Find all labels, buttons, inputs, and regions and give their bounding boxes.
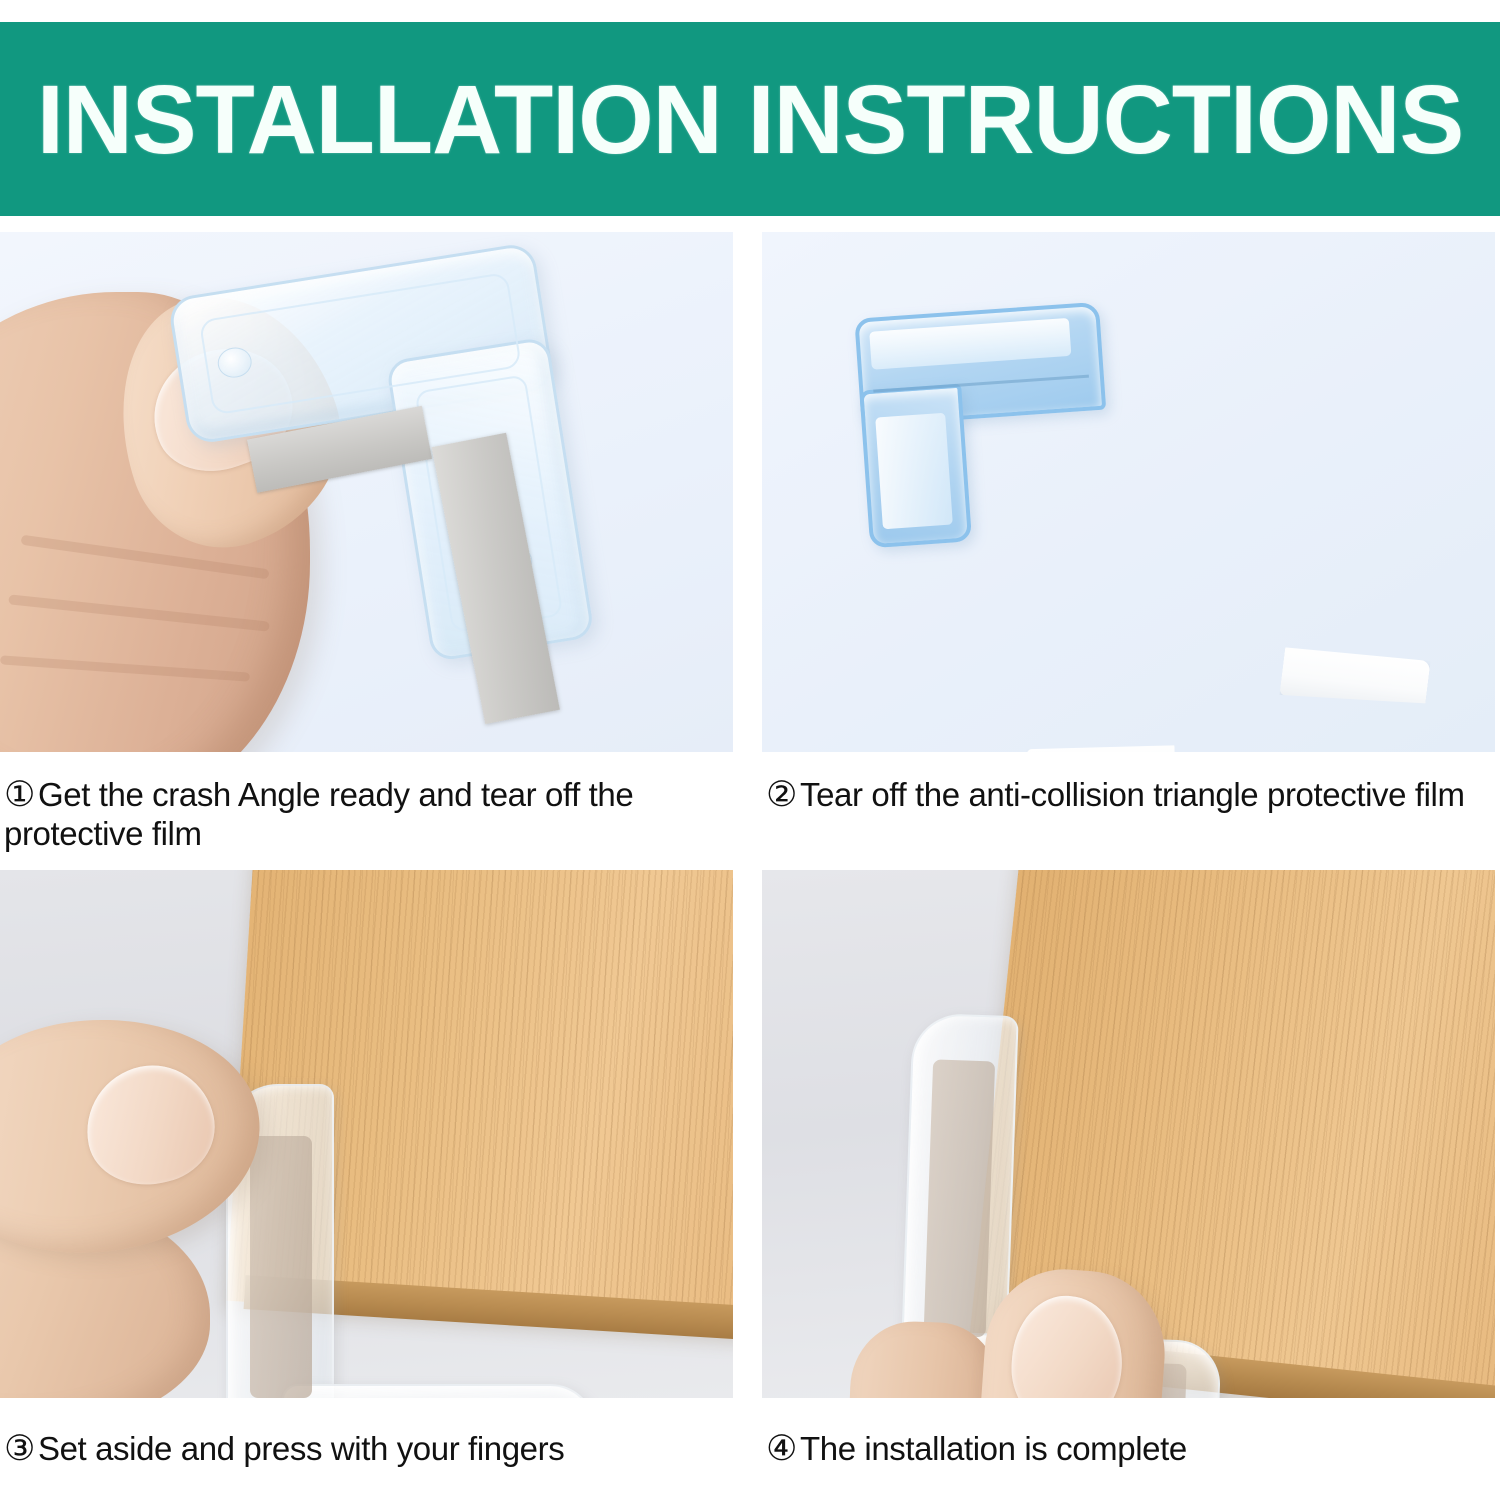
step-2-photo [762,232,1495,752]
step-3: ③Set aside and press with your fingers [0,870,733,1469]
step-1-photo [0,232,733,752]
installation-instructions-page: INSTALLATION INSTRUCTIONS [0,0,1500,1500]
step-text: Get the crash Angle ready and tear off t… [4,776,633,852]
step-1-caption: ①Get the crash Angle ready and tear off … [0,752,733,854]
step-4-caption: ④The installation is complete [762,1398,1495,1469]
step-number: ② [766,775,797,814]
step-number: ① [4,775,35,814]
step-2: ②Tear off the anti-collision triangle pr… [762,232,1495,815]
step-4-photo [762,870,1495,1398]
guard-horizontal-arm [282,1384,596,1398]
clear-corner-guard [226,1084,596,1398]
step-1: ①Get the crash Angle ready and tear off … [0,232,733,854]
step-text: The installation is complete [800,1430,1187,1467]
step-2-caption: ②Tear off the anti-collision triangle pr… [762,752,1495,815]
step-text: Tear off the anti-collision triangle pro… [800,776,1465,813]
clear-corner-guard [167,242,595,695]
step-number: ③ [4,1429,35,1468]
header-banner: INSTALLATION INSTRUCTIONS [0,22,1500,216]
step-3-caption: ③Set aside and press with your fingers [0,1398,733,1469]
protective-film [875,413,953,530]
adhesive-strip [250,1136,312,1398]
step-3-photo [0,870,733,1398]
blue-corner-guard [854,302,1114,549]
step-4: ④The installation is complete [762,870,1495,1469]
step-text: Set aside and press with your fingers [38,1430,564,1467]
steps-grid: ①Get the crash Angle ready and tear off … [0,232,1500,1500]
page-title: INSTALLATION INSTRUCTIONS [37,71,1463,168]
adhesive-strip [924,1059,996,1337]
step-number: ④ [766,1429,797,1468]
